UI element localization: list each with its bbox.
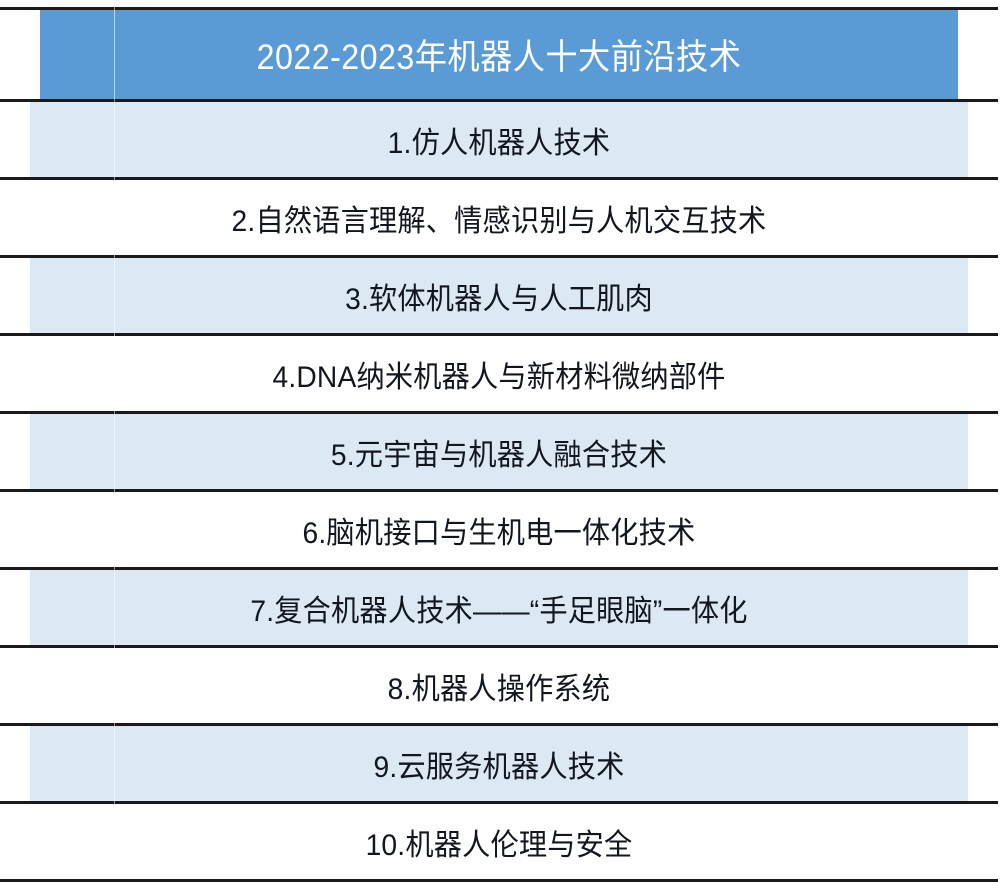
table-row: 7.复合机器人技术——“手足眼脑”一体化 [0,569,998,647]
top-ten-robotics-technologies-table: 2022-2023年机器人十大前沿技术 1.仿人机器人技术 2.自然语言理解、情… [0,7,998,882]
table-row: 9.云服务机器人技术 [0,725,998,803]
table-row: 10.机器人伦理与安全 [0,803,998,881]
list-item-10: 10.机器人伦理与安全 [30,803,968,881]
table-row: 4.DNA纳米机器人与新材料微纳部件 [0,335,998,413]
table-row: 1.仿人机器人技术 [0,101,998,179]
list-item-5: 5.元宇宙与机器人融合技术 [30,413,968,491]
table-row: 2.自然语言理解、情感识别与人机交互技术 [0,179,998,257]
list-item-9: 9.云服务机器人技术 [30,725,968,803]
table-title: 2022-2023年机器人十大前沿技术 [40,9,958,101]
list-item-6: 6.脑机接口与生机电一体化技术 [30,491,968,569]
list-item-4: 4.DNA纳米机器人与新材料微纳部件 [30,335,968,413]
tech-list-table-container: 2022-2023年机器人十大前沿技术 1.仿人机器人技术 2.自然语言理解、情… [0,0,1000,860]
list-item-1: 1.仿人机器人技术 [30,101,968,179]
table-row: 6.脑机接口与生机电一体化技术 [0,491,998,569]
table-row: 5.元宇宙与机器人融合技术 [0,413,998,491]
table-header-row: 2022-2023年机器人十大前沿技术 [0,9,998,101]
list-item-2: 2.自然语言理解、情感识别与人机交互技术 [30,179,968,257]
list-item-3: 3.软体机器人与人工肌肉 [30,257,968,335]
list-item-8: 8.机器人操作系统 [30,647,968,725]
list-item-7: 7.复合机器人技术——“手足眼脑”一体化 [30,569,968,647]
table-row: 3.软体机器人与人工肌肉 [0,257,998,335]
table-row: 8.机器人操作系统 [0,647,998,725]
